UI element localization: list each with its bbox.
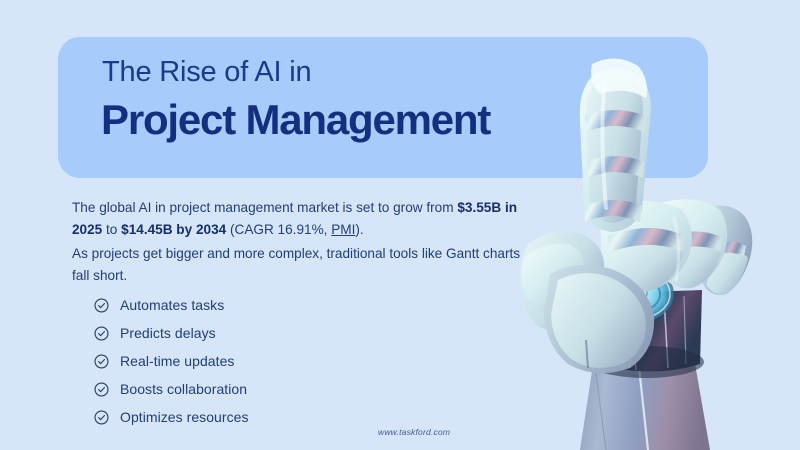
paragraph1-bold2: $14.45B by 2034	[121, 222, 226, 237]
list-item: Optimizes resources	[94, 403, 249, 431]
check-circle-icon	[94, 298, 109, 313]
feature-label: Real-time updates	[120, 353, 234, 369]
check-circle-icon	[94, 354, 109, 369]
list-item: Predicts delays	[94, 319, 249, 347]
feature-label: Predicts delays	[120, 325, 216, 341]
list-item: Boosts collaboration	[94, 375, 249, 403]
paragraph1-segment3: (CAGR 16.91%,	[226, 222, 331, 237]
feature-list: Automates tasks Predicts delays Real-tim…	[94, 291, 249, 431]
body-copy: The global AI in project management mark…	[72, 197, 524, 287]
paragraph1-segment4: ).	[355, 222, 363, 237]
list-item: Automates tasks	[94, 291, 249, 319]
body-paragraph-1: The global AI in project management mark…	[72, 197, 524, 241]
feature-label: Automates tasks	[120, 297, 224, 313]
page-title-line2: Project Management	[101, 96, 490, 144]
footer-website-url: www.taskford.com	[378, 427, 450, 437]
body-paragraph-2: As projects get bigger and more complex,…	[72, 243, 524, 287]
feature-label: Boosts collaboration	[120, 381, 247, 397]
header-card: The Rise of AI in Project Management	[58, 37, 708, 178]
check-circle-icon	[94, 410, 109, 425]
list-item: Real-time updates	[94, 347, 249, 375]
paragraph1-segment1: The global AI in project management mark…	[72, 200, 457, 215]
pmi-source-link[interactable]: PMI	[331, 222, 355, 237]
slide-canvas: The Rise of AI in Project Management The…	[0, 0, 800, 450]
feature-label: Optimizes resources	[120, 409, 249, 425]
check-circle-icon	[94, 382, 109, 397]
page-title-line1: The Rise of AI in	[102, 56, 311, 89]
check-circle-icon	[94, 326, 109, 341]
paragraph1-segment2: to	[102, 222, 121, 237]
